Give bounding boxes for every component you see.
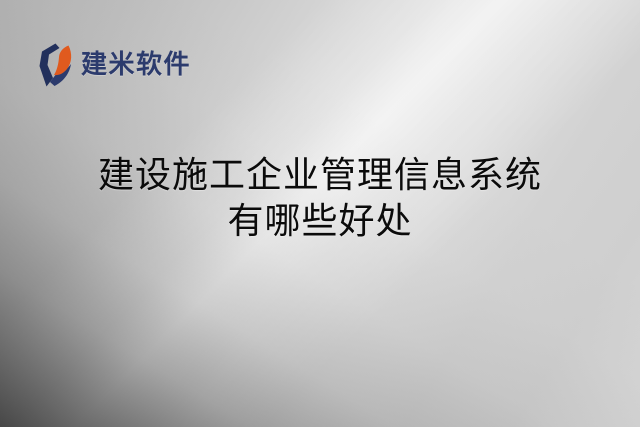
page-title-line-2: 有哪些好处 [0, 198, 640, 244]
brand-wordmark: 建米软件 [81, 52, 191, 78]
page-title-line-1: 建设施工企业管理信息系统 [0, 152, 640, 198]
page-title: 建设施工企业管理信息系统 有哪些好处 [0, 152, 640, 244]
jianmi-logo-mark [38, 42, 76, 88]
brand-logo[interactable]: 建米软件 [38, 42, 191, 88]
promo-banner: 建米软件 建设施工企业管理信息系统 有哪些好处 [0, 0, 640, 427]
